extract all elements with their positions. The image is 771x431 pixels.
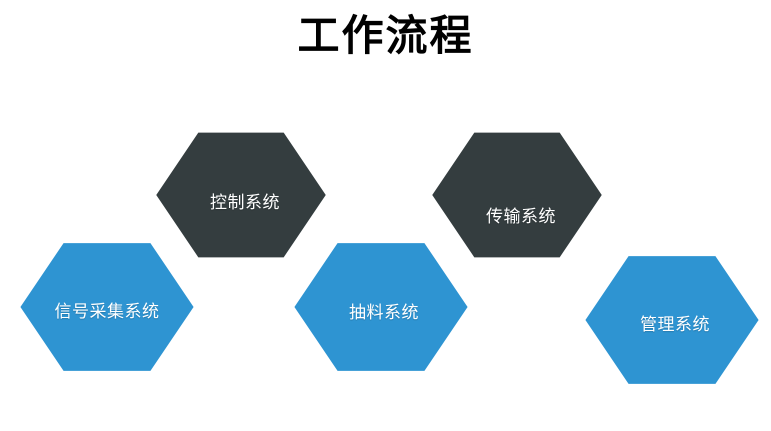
- hexagon-process-diagram: [0, 0, 771, 431]
- hexagon-shape-control[interactable]: [152, 129, 330, 261]
- hexagon-shapes: [18, 129, 761, 386]
- hexagon-shape-signal-acquisition[interactable]: [18, 241, 196, 373]
- hexagon-shape-management[interactable]: [583, 254, 761, 386]
- hexagon-shape-transmission[interactable]: [428, 129, 606, 261]
- slide-canvas: 工作流程 信号采集系统 控制系统 抽料系统 传输系统 管理系统: [0, 0, 771, 431]
- hexagon-shape-material-extraction[interactable]: [292, 241, 470, 373]
